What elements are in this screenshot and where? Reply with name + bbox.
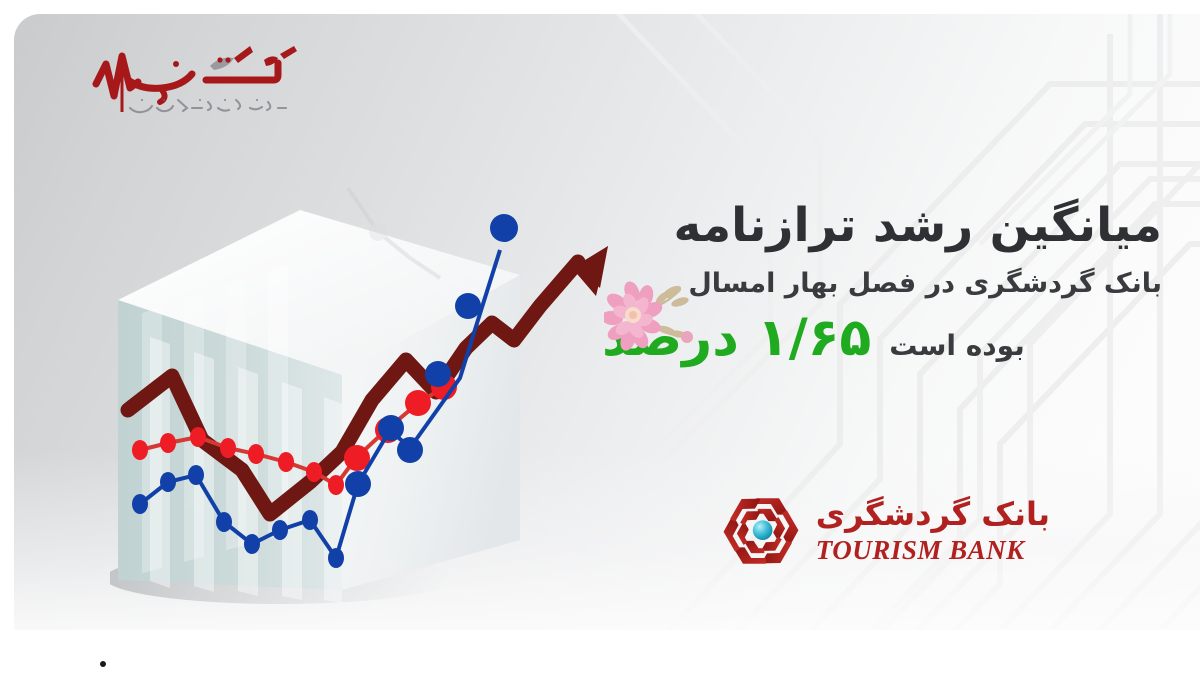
poster-banner: میانگین رشد ترازنامه بانک گردشگری در فصل…: [14, 14, 1200, 630]
cube-growth-chart-illustration: [110, 110, 630, 610]
tourism-bank-emblem-icon: [720, 490, 802, 572]
flower-petals: [604, 279, 665, 353]
stray-dot: [100, 661, 106, 667]
headline-suffix: بوده است: [889, 332, 1025, 360]
bank-name-fa: بانک گردشگری: [816, 498, 1050, 530]
headline-line-1: میانگین رشد ترازنامه: [602, 200, 1162, 253]
tourism-bank-wordmark: بانک گردشگری TOURISM BANK: [816, 498, 1050, 564]
bank-name-en: TOURISM BANK: [816, 537, 1025, 564]
tourism-bank-logo: بانک گردشگری TOURISM BANK: [720, 490, 1050, 572]
flower-ornament-icon: [604, 276, 700, 362]
poster-canvas: میانگین رشد ترازنامه بانک گردشگری در فصل…: [0, 0, 1200, 674]
nabz-bazar-wordmark-icon: [96, 46, 297, 112]
tourism-bank-orb-icon: [753, 520, 773, 540]
